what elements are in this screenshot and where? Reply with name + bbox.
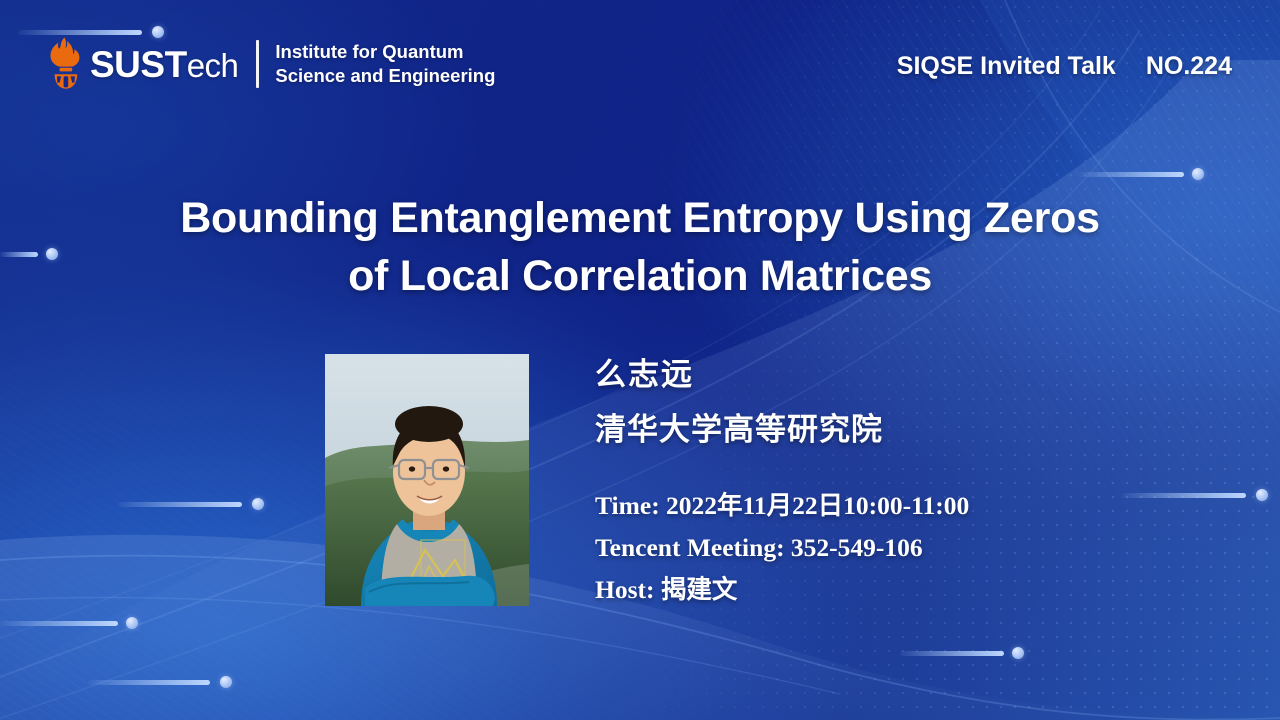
- institute-name-line1: Institute for Quantum: [275, 40, 495, 64]
- institute-name: Institute for Quantum Science and Engine…: [275, 40, 495, 87]
- accent-line-bottom-right: [900, 645, 1028, 661]
- tencent-meeting-id: Tencent Meeting: 352-549-106: [595, 527, 969, 569]
- speaker-affiliation: 清华大学高等研究院: [595, 413, 969, 448]
- speaker-portrait-image: [325, 354, 529, 606]
- accent-line-lower-left: [118, 496, 268, 512]
- talk-number-label: NO.224: [1146, 52, 1232, 81]
- speaker-details: 么志远 清华大学高等研究院 Time: 2022年11月22日10:00-11:…: [595, 354, 969, 610]
- logo-word-main: SUST: [90, 44, 187, 85]
- seminar-poster: SUSTech Institute for Quantum Science an…: [0, 0, 1280, 720]
- talk-title-line2: of Local Correlation Matrices: [90, 248, 1190, 306]
- accent-line-bottom-left: [0, 615, 140, 631]
- talk-title-line1: Bounding Entanglement Entropy Using Zero…: [90, 190, 1190, 248]
- speaker-name: 么志远: [595, 358, 969, 393]
- talk-time: Time: 2022年11月22日10:00-11:00: [595, 485, 969, 527]
- talk-meta: Time: 2022年11月22日10:00-11:00 Tencent Mee…: [595, 485, 969, 610]
- talk-title: Bounding Entanglement Entropy Using Zero…: [90, 190, 1190, 305]
- speaker-section: 么志远 清华大学高等研究院 Time: 2022年11月22日10:00-11:…: [325, 354, 969, 610]
- torch-flame-icon: [44, 36, 84, 92]
- speaker-photo: [325, 354, 529, 606]
- sustech-wordmark: SUSTech: [90, 46, 238, 83]
- logo-word-tail: ech: [187, 47, 239, 84]
- institute-name-line2: Science and Engineering: [275, 64, 495, 88]
- talk-series-label: SIQSE Invited Talk: [897, 52, 1116, 81]
- talk-host: Host: 揭建文: [595, 569, 969, 611]
- accent-line-mid-right: [1122, 487, 1274, 503]
- poster-header: SUSTech Institute for Quantum Science an…: [0, 0, 1280, 120]
- sustech-logo: SUSTech Institute for Quantum Science an…: [44, 36, 495, 92]
- logo-divider: [256, 40, 259, 88]
- accent-line-top-right: [1080, 166, 1208, 182]
- accent-line-mid-left: [0, 246, 60, 262]
- talk-series-badge: SIQSE Invited Talk NO.224: [897, 52, 1232, 81]
- accent-line-bottom-left-2: [88, 674, 238, 690]
